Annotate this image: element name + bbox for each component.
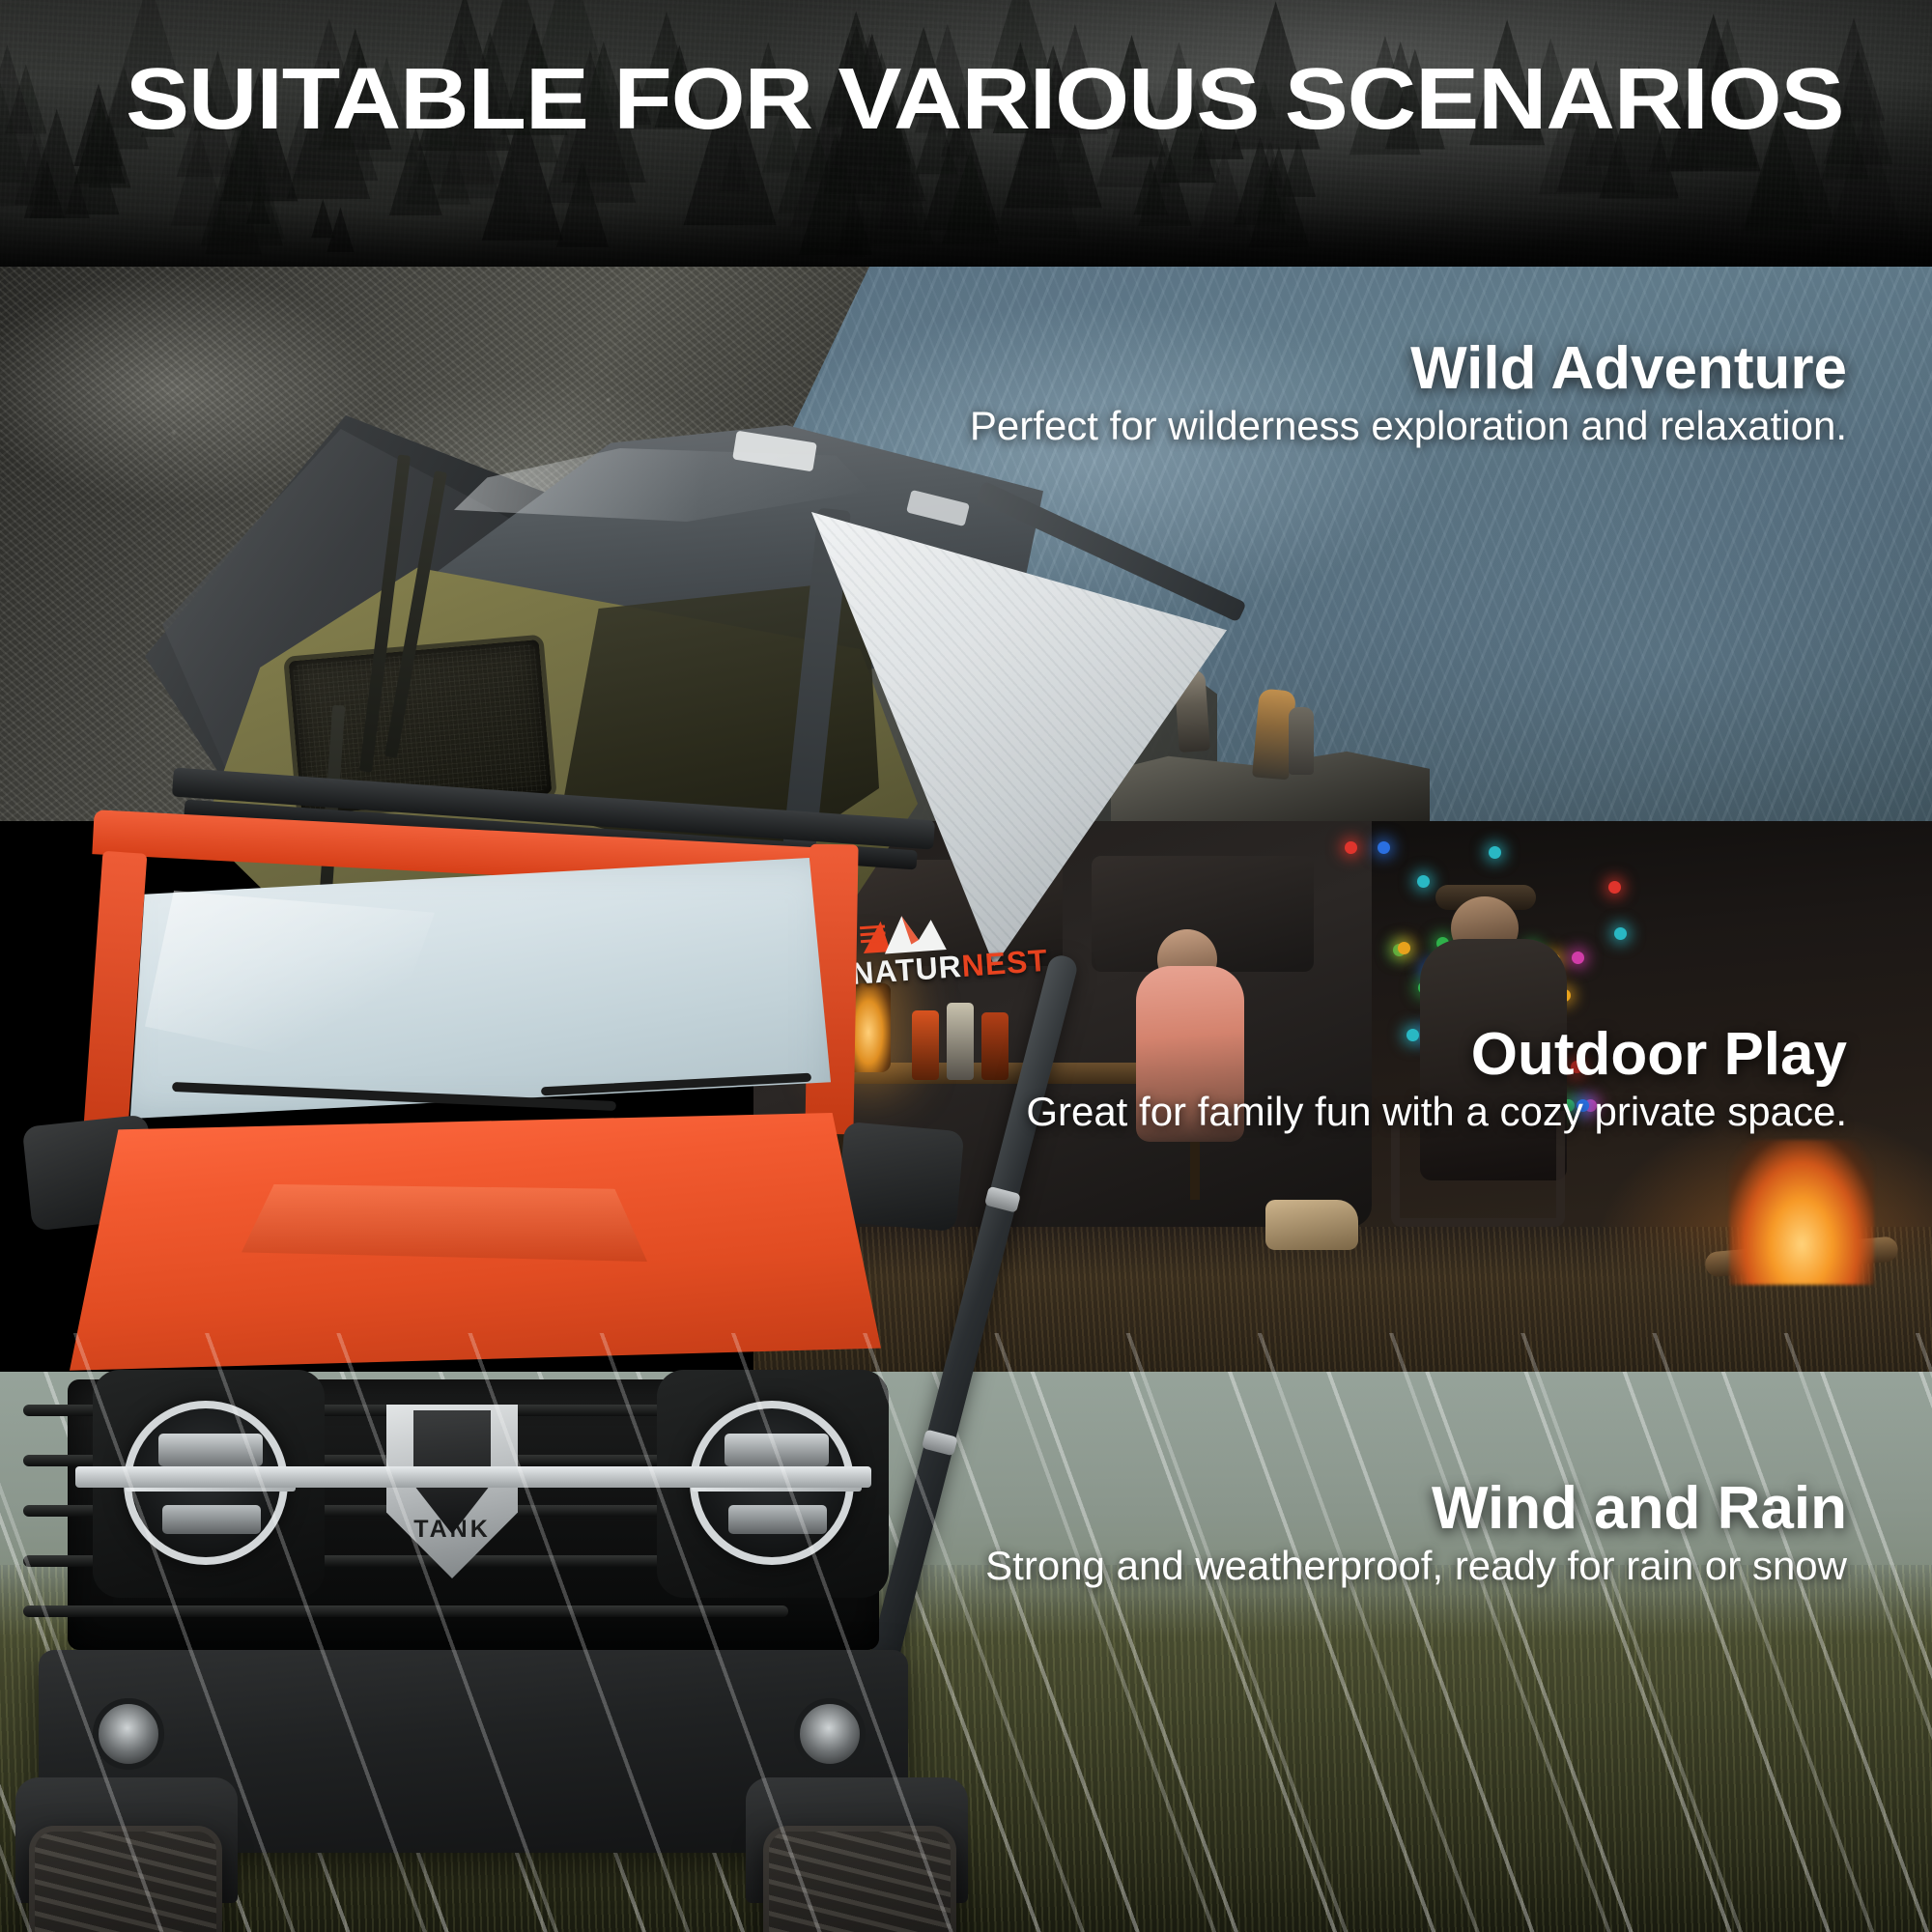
led-strip <box>158 1434 263 1466</box>
heading-outdoor-play: Outdoor Play <box>850 1024 1847 1085</box>
product-feature-graphic: SUITABLE FOR VARIOUS SCENARIOS <box>0 0 1932 1932</box>
fog-lamp <box>794 1698 866 1770</box>
hiker-figure <box>1289 707 1314 775</box>
led-strip <box>162 1505 261 1534</box>
front-tire <box>763 1826 956 1932</box>
fog-lamp <box>93 1698 164 1770</box>
text-block-wind-and-rain: Wind and Rain Strong and weatherproof, r… <box>850 1478 1893 1589</box>
page-title: SUITABLE FOR VARIOUS SCENARIOS <box>126 56 1549 143</box>
text-block-wild-adventure: Wild Adventure Perfect for wilderness ex… <box>850 338 1893 449</box>
body-wind-and-rain: Strong and weatherproof, ready for rain … <box>850 1543 1847 1589</box>
suv-vehicle: TANK <box>0 802 1005 1932</box>
rooftop-tent-rig: NATURNEST <box>0 415 1256 1932</box>
chrome-crossbar <box>75 1466 871 1488</box>
body-wild-adventure: Perfect for wilderness exploration and r… <box>850 403 1847 449</box>
heading-wild-adventure: Wild Adventure <box>850 338 1847 399</box>
front-tire <box>29 1826 222 1932</box>
hood-crease <box>241 1184 647 1262</box>
side-mirror <box>837 1122 965 1232</box>
boot <box>1265 1200 1358 1250</box>
header-band: SUITABLE FOR VARIOUS SCENARIOS <box>0 0 1932 267</box>
campfire <box>1729 1140 1874 1285</box>
body-outdoor-play: Great for family fun with a cozy private… <box>850 1089 1847 1135</box>
text-block-outdoor-play: Outdoor Play Great for family fun with a… <box>850 1024 1893 1135</box>
heading-wind-and-rain: Wind and Rain <box>850 1478 1847 1539</box>
led-strip <box>728 1505 827 1534</box>
led-strip <box>724 1434 829 1466</box>
grille-slat <box>23 1605 788 1617</box>
